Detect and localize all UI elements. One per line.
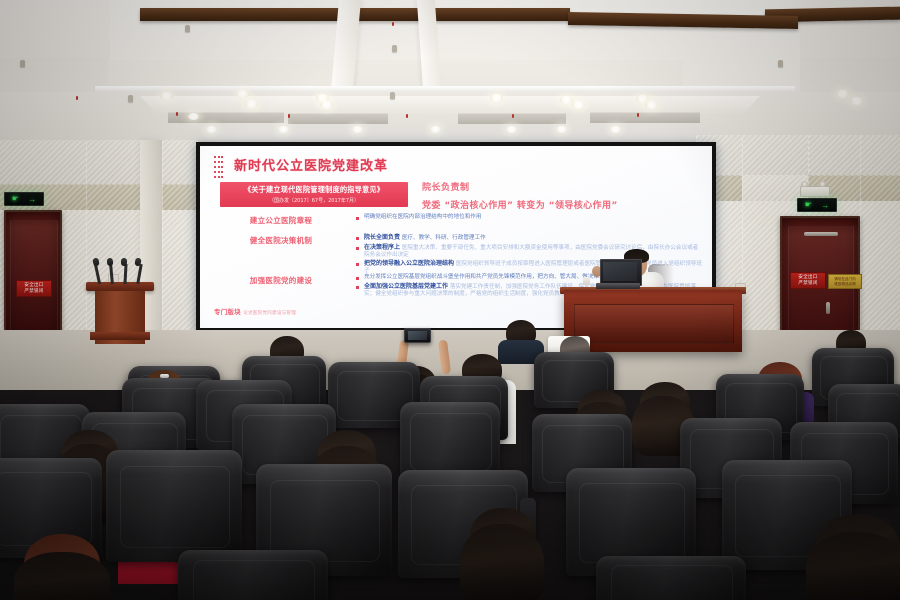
bullet-dot-icon <box>356 247 359 250</box>
microphone-icon <box>107 258 114 266</box>
ceiling-vent <box>288 113 388 124</box>
downlight <box>206 126 217 133</box>
downlight <box>850 97 863 105</box>
slide-decoration-dots <box>214 156 223 178</box>
bullet-lead: 全面加强公立医院基层党建工作 <box>364 283 448 290</box>
emergency-lamp <box>819 181 826 187</box>
emergency-lamp <box>801 181 808 187</box>
wall-panel <box>860 175 900 203</box>
smartphone[interactable] <box>404 328 431 343</box>
downlight <box>430 126 441 133</box>
downlight <box>320 101 333 109</box>
bullet-lead: 院长全面负责 <box>364 234 400 241</box>
arrow-right-icon: → <box>28 195 36 204</box>
downlight <box>188 113 199 120</box>
bullet-dot-icon <box>356 286 359 289</box>
downlight <box>278 126 289 133</box>
bullet-text: 在决策程序上 医院重大决策、重要干部任免、重大项目安排和大额资金使用等事项，由医… <box>364 244 702 259</box>
auditorium-seat <box>178 550 328 600</box>
downlight <box>245 100 258 108</box>
sprinkler-head <box>128 95 133 102</box>
bullet-lead: 在决策程序上 <box>364 244 400 251</box>
downlight <box>506 126 517 133</box>
auditorium-seat <box>400 402 500 480</box>
row-label: 加强医院党的建设 <box>210 274 352 299</box>
bullet-dot-icon <box>356 277 359 280</box>
ceiling <box>0 0 900 150</box>
drinking-cup <box>583 277 590 285</box>
audience-area <box>0 318 900 600</box>
safety-sign-red-left: 安全出口 严禁锁闭 <box>16 280 52 297</box>
bullet-item: 明确党组织在医院内部治理结构中的地位和作用 <box>356 214 702 221</box>
slide-row: 建立公立医院章程 明确党组织在医院内部治理结构中的地位和作用 <box>210 214 702 226</box>
bullet-dot-icon <box>356 263 359 266</box>
downlight <box>352 126 363 133</box>
exit-sign-right: ☛ → <box>797 198 837 212</box>
bullet-item: 院长全面负责 医疗、教学、科研、行政管理工作 <box>356 234 702 242</box>
bullet-item: 在决策程序上 医院重大决策、重要干部任免、重大项目安排和大额资金使用等事项，由医… <box>356 244 702 259</box>
wall-panel <box>808 135 862 177</box>
sprinkler-head <box>185 25 190 32</box>
downlight <box>836 90 849 98</box>
right-heading-line-1: 院长负责制 <box>422 180 702 193</box>
downlight <box>610 126 621 133</box>
sprinkler-indicator <box>392 22 394 26</box>
bullet-dot-icon <box>356 217 359 220</box>
sprinkler-indicator <box>637 113 639 117</box>
attendee-arm <box>438 340 451 375</box>
microphone-icon <box>121 258 127 266</box>
wall-panel <box>86 184 144 212</box>
wall-panel <box>742 135 810 177</box>
lectern-top <box>86 282 154 291</box>
footer-main: 专门版块 <box>214 308 241 316</box>
slide-policy-banner: 《关于建立现代医院管理制度的指导意见》 （国办发〔2017〕67号，2017年7… <box>220 182 408 207</box>
wall-panel <box>0 140 88 186</box>
bullet-dot-icon <box>356 237 359 240</box>
wall-panel <box>162 140 198 186</box>
slide-title: 新时代公立医院党建改革 <box>234 155 388 174</box>
slide-footer: 专门版块 论述医院党的建设与管理 <box>214 306 414 316</box>
laptop-screen <box>603 262 637 281</box>
sprinkler-indicator <box>406 114 408 118</box>
downlight <box>572 101 585 109</box>
bullet-lead: 把党的领导融入公立医院治理结构 <box>364 260 454 267</box>
attendee-hair <box>460 524 544 600</box>
bullet-text: 院长全面负责 医疗、教学、科研、行政管理工作 <box>364 234 486 242</box>
running-person-icon: ☛ <box>12 195 19 203</box>
sprinkler-head <box>392 45 397 52</box>
arrow-right-icon: → <box>821 201 829 210</box>
safety-sign-red-right: 安全出口 严禁锁闭 <box>790 272 826 289</box>
downlight <box>556 126 567 133</box>
exit-sign-left: ☛ → <box>4 192 44 206</box>
row-label: 健全医院决策机制 <box>210 234 352 277</box>
emergency-light <box>800 186 830 197</box>
conference-hall-photo: ☛ → 安全出口 严禁锁闭 ☛ → 安全出口 严禁锁闭 请勿在此门内 堆放物品杂… <box>0 0 900 600</box>
laptop-lid <box>600 259 642 286</box>
attendee-hair <box>14 552 110 600</box>
wall-panel <box>162 184 198 212</box>
sprinkler-head <box>20 60 25 67</box>
wall-panel <box>860 135 900 177</box>
slide-right-heading: 院长负责制 党委 “政治核心作用” 转变为 “领导核心作用” <box>422 180 702 211</box>
running-person-icon: ☛ <box>805 201 812 209</box>
ceiling-vent <box>168 112 284 123</box>
ceiling-vent <box>590 112 700 123</box>
downlight <box>160 92 173 100</box>
door-handle[interactable] <box>826 302 830 314</box>
footer-sub: 论述医院党的建设与管理 <box>243 311 296 316</box>
row-body: 明确党组织在医院内部治理结构中的地位和作用 <box>352 214 702 226</box>
auditorium-seat <box>106 450 242 562</box>
sprinkler-indicator <box>176 112 178 116</box>
safety-sign-yellow-right: 请勿在此门内 堆放物品杂物 <box>828 274 862 289</box>
banner-line-1: 《关于建立现代医院管理制度的指导意见》 <box>244 185 384 195</box>
sprinkler-indicator <box>288 114 290 118</box>
sprinkler-head <box>778 60 783 67</box>
downlight <box>645 101 658 109</box>
door-push-bar <box>804 232 838 236</box>
downlight <box>560 96 573 104</box>
phone-screen <box>408 331 427 340</box>
downlight <box>490 94 503 102</box>
banner-line-2: （国办发〔2017〕67号，2017年7月） <box>269 197 359 204</box>
sprinkler-head <box>390 92 395 99</box>
bullet-body: 医疗、教学、科研、行政管理工作 <box>402 235 486 241</box>
bullet-text: 明确党组织在医院内部治理结构中的地位和作用 <box>364 214 481 221</box>
downlight <box>236 90 249 98</box>
sprinkler-indicator <box>76 96 78 100</box>
laptop-base <box>596 283 640 289</box>
row-label: 建立公立医院章程 <box>210 214 352 226</box>
wall-panel <box>86 140 144 186</box>
right-heading-line-2: 党委 “政治核心作用” 转变为 “领导核心作用” <box>422 198 702 211</box>
attendee-hair <box>806 532 900 600</box>
auditorium-seat <box>596 556 746 600</box>
sprinkler-indicator <box>512 114 514 118</box>
